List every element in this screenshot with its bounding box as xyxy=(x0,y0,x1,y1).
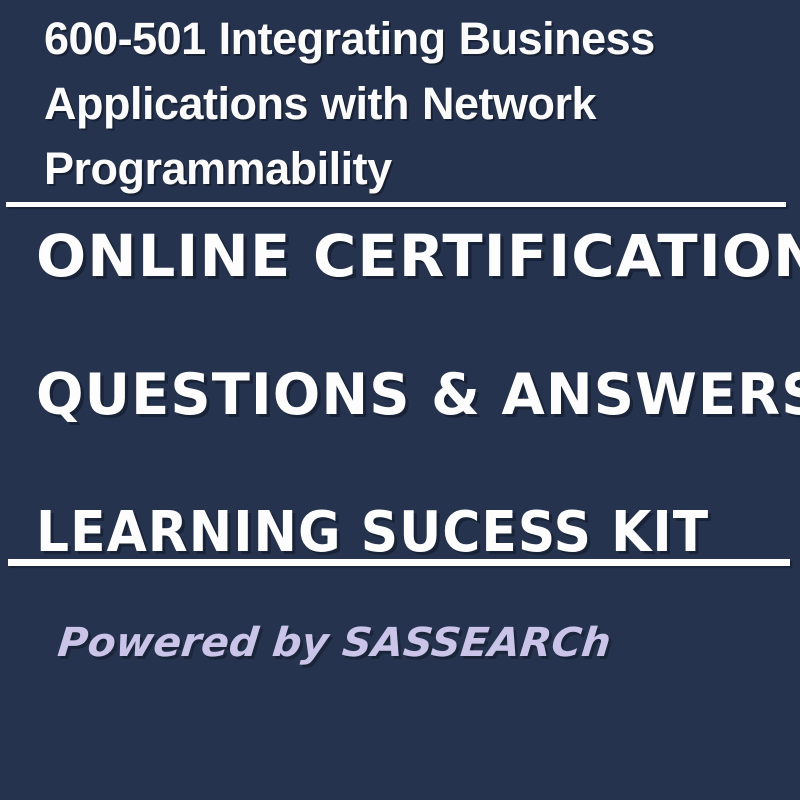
headline-online-certification: Online Certification xyxy=(36,222,800,290)
divider-bottom xyxy=(8,559,790,566)
headline-learning-sucess-kit: Learning Sucess Kit xyxy=(36,500,709,565)
certification-banner: 600-501 Integrating Business Application… xyxy=(0,0,800,800)
headline-questions-answers: Questions & Answers xyxy=(36,362,800,428)
divider-top xyxy=(6,202,786,207)
exam-title: 600-501 Integrating Business Application… xyxy=(44,6,744,201)
powered-by-label: Powered by SASSEARCh xyxy=(56,620,613,666)
